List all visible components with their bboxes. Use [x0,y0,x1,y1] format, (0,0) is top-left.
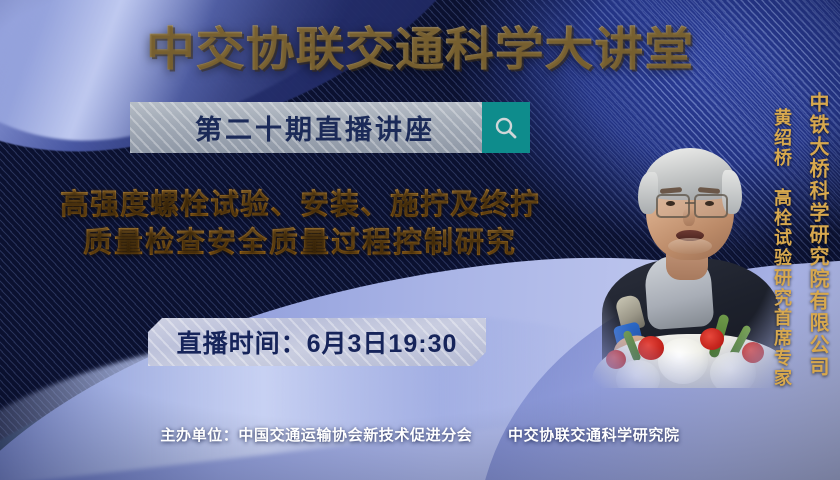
episode-banner: 第二十期直播讲座 [130,102,530,153]
lecture-title-line1: 高强度螺栓试验、安装、施拧及终拧 [0,186,600,224]
poster-canvas: 中交协联交通科学大讲堂 第二十期直播讲座 高强度螺栓试验、安装、施拧及终拧 质量… [0,0,840,480]
episode-label: 第二十期直播讲座 [130,108,482,147]
speaker-eye-left [666,201,675,206]
search-icon [493,115,519,141]
bouquet-carnation-2 [700,328,724,350]
page-title: 中交协联交通科学大讲堂 [0,20,840,78]
footer-organizer-2: 中交协联交通科学研究院 [508,427,680,444]
speaker-company: 中铁大桥科学研究院有限公司 [806,92,828,378]
footer-organizer-1: 主办单位：中国交通运输协会新技术促进分会 [160,427,472,444]
lecture-title-line2: 质量检查安全质量过程控制研究 [0,224,600,262]
bouquet-carnation-4 [606,350,626,369]
search-button[interactable] [482,102,530,153]
speaker-nose [683,208,695,226]
speaker-name-title: 黄绍桥 高栓试验研究首席专家 [772,108,792,388]
bouquet-lily-1 [658,338,708,384]
broadcast-time-badge: 直播时间：6月3日19:30 [148,318,486,366]
speaker-photo [584,138,798,388]
bouquet-carnation-3 [742,342,764,363]
speaker-hair-left [638,172,658,214]
bouquet-carnation-1 [638,336,664,360]
speaker-eye-right [705,201,714,206]
page-title-text: 中交协联交通科学大讲堂 [146,20,694,78]
lecture-title: 高强度螺栓试验、安装、施拧及终拧 质量检查安全质量过程控制研究 [0,186,600,262]
speaker-chin [668,238,712,254]
speaker-glasses-right [694,194,728,218]
footer-organizers: 主办单位：中国交通运输协会新技术促进分会 中交协联交通科学研究院 [0,424,840,445]
speaker-glasses-bridge [685,202,695,204]
broadcast-time-label: 直播时间：6月3日19:30 [177,324,458,360]
